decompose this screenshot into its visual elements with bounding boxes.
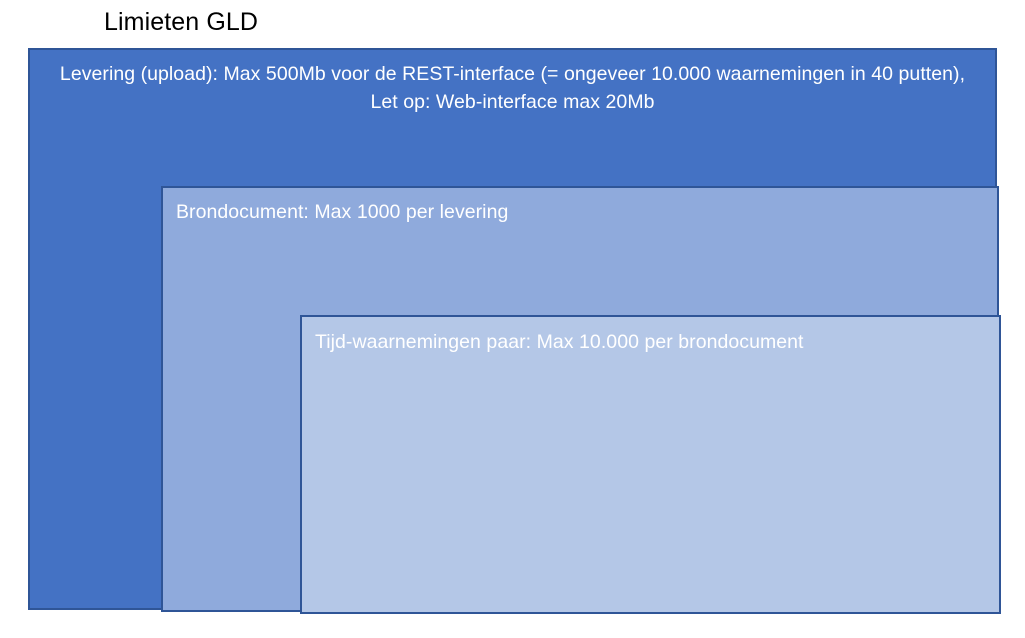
brondocument-box[interactable]: Brondocument: Max 1000 per levering Tijd… xyxy=(161,186,999,612)
tijd-waarnemingen-paar-box[interactable]: Tijd-waarnemingen paar: Max 10.000 per b… xyxy=(300,315,1001,614)
levering-box[interactable]: Levering (upload): Max 500Mb voor de RES… xyxy=(28,48,997,610)
levering-label: Levering (upload): Max 500Mb voor de RES… xyxy=(40,60,985,116)
page-title: Limieten GLD xyxy=(104,6,258,38)
levering-label-line-1: Levering (upload): Max 500Mb voor de RES… xyxy=(40,60,985,88)
levering-label-line-2: Let op: Web-interface max 20Mb xyxy=(40,88,985,116)
tijd-waarnemingen-paar-label: Tijd-waarnemingen paar: Max 10.000 per b… xyxy=(315,329,804,355)
brondocument-label: Brondocument: Max 1000 per levering xyxy=(176,199,508,225)
slide-canvas: Limieten GLD Levering (upload): Max 500M… xyxy=(0,0,1025,638)
